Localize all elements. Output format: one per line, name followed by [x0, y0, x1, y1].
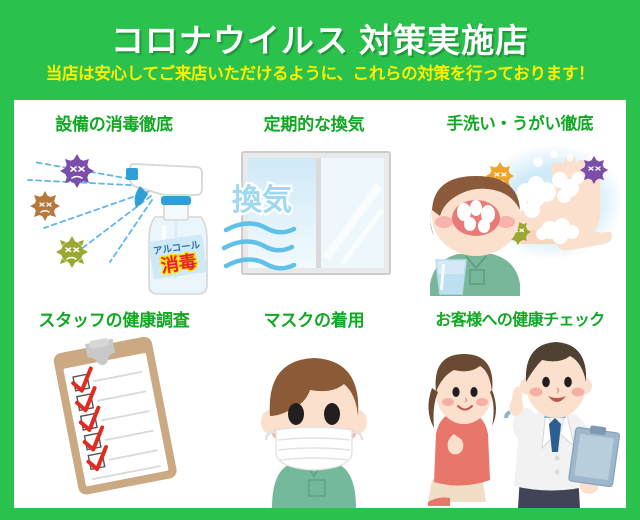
illustration-customer-check	[414, 330, 626, 508]
gargling-person-icon	[430, 176, 520, 296]
illustration-clipboard	[14, 330, 214, 508]
panel-heading-disinfection: 設備の消毒徹底	[14, 110, 214, 135]
woman-figure	[428, 354, 496, 506]
clipboard-icon	[51, 330, 178, 496]
panel-heading-mask: マスクの着用	[214, 306, 414, 331]
panel-customer-check: お客様への健康チェック	[414, 296, 626, 508]
panel-heading-ventilation: 定期的な換気	[214, 110, 414, 135]
virus-purple-icon	[580, 156, 608, 184]
panel-heading-staff-health: スタッフの健康調査	[14, 306, 214, 331]
masked-person-icon	[261, 358, 367, 508]
virus-purple-icon	[60, 154, 94, 188]
panel-handwash: 手洗い・うがい徹底	[414, 100, 626, 296]
panel-ventilation: 定期的な換気	[214, 100, 414, 296]
doctor-figure	[506, 342, 620, 508]
panel-staff-health: スタッフの健康調査	[14, 296, 214, 508]
poster-header: コロナウイルス 対策実施店 当店は安心してご来店いただけるように、これらの対策を…	[0, 0, 640, 100]
ventilation-overlay-text: 換気	[232, 184, 292, 217]
illustration-window: 換気	[214, 134, 414, 296]
panel-heading-customer-check: お客様への健康チェック	[414, 306, 626, 330]
spray-bottle-icon: アルコール 消毒	[126, 164, 207, 294]
panel-mask: マスクの着用	[214, 296, 414, 508]
panel-heading-handwash: 手洗い・うがい徹底	[414, 110, 626, 134]
content-area: 設備の消毒徹底	[14, 100, 626, 508]
illustration-handwash	[414, 134, 626, 296]
poster-root: コロナウイルス 対策実施店 当店は安心してご来店いただけるように、これらの対策を…	[0, 0, 640, 520]
page-subtitle: 当店は安心してご来店いただけるように、これらの対策を行っております！	[0, 60, 640, 84]
illustration-spray-bottle: アルコール 消毒	[14, 134, 214, 296]
measures-grid: 設備の消毒徹底	[14, 100, 626, 508]
page-title: コロナウイルス 対策実施店	[0, 14, 640, 62]
virus-olive-icon	[56, 236, 88, 268]
virus-brown-icon	[30, 191, 60, 221]
panel-disinfection: 設備の消毒徹底	[14, 100, 214, 296]
illustration-masked-person	[214, 330, 414, 508]
